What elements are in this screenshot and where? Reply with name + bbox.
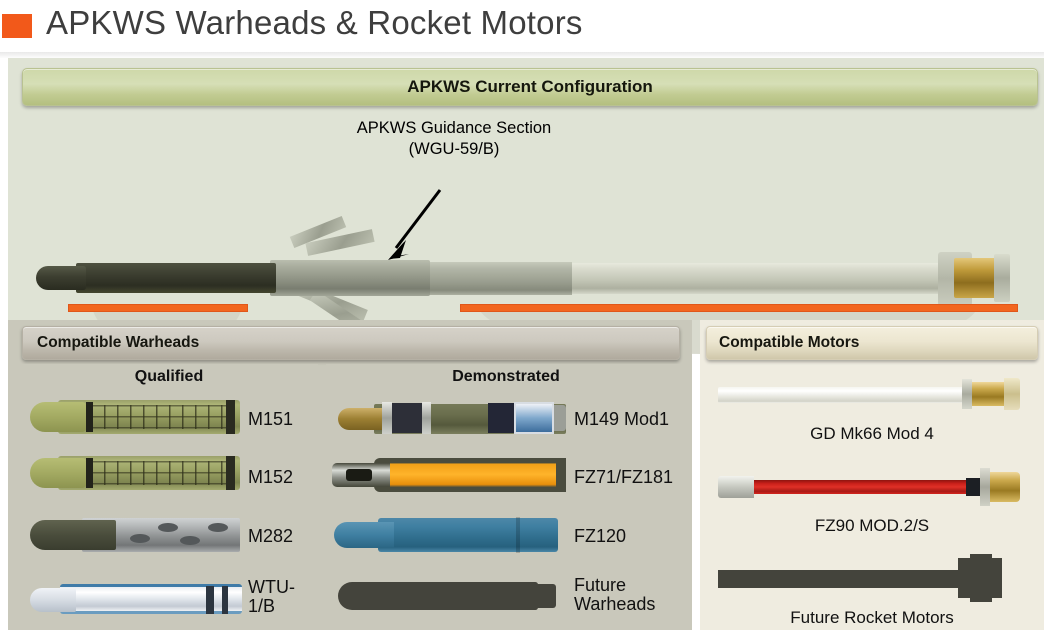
m282-label: M282 [248,527,293,546]
fz120-label: FZ120 [574,527,626,546]
fz71-fz181-label: FZ71/FZ181 [574,468,673,487]
future-warheads-graphic [338,582,560,610]
compatible-warheads-banner: Compatible Warheads [22,326,680,360]
hero-banner: APKWS Current Configuration [22,68,1038,106]
fz90-nozzle [986,472,1020,502]
m151-label: M151 [248,410,293,429]
warhead-nose [36,266,86,290]
compatible-motors-label: Compatible Motors [707,334,859,352]
callout-line-2: (WGU-59/B) [324,139,584,160]
fz120-graphic [334,518,558,552]
m152-label: M152 [248,468,293,487]
compatible-warheads-panel: Compatible Warheads Qualified M151 M152 [8,320,692,630]
fz90-label: FZ90 MOD.2/S [700,516,1044,536]
m151-graphic [30,400,240,434]
wtu-1b-label-line2: 1/B [248,597,295,616]
m149-mod1-graphic [338,402,566,434]
orange-square-marker-icon [2,14,32,38]
warhead-row-fz120: FZ120 [326,506,686,566]
wtu-1b-graphic [30,584,242,616]
warhead-row-m149-mod1: M149 Mod1 [326,390,686,448]
wtu-1b-label: WTU- 1/B [248,578,295,616]
future-motor-graphic [718,558,1018,598]
demonstrated-column: Demonstrated M149 Mod1 FZ71/FZ181 [326,364,686,624]
rocket-motor-tube [568,263,948,294]
future-warheads-label-line2: Warheads [574,595,655,614]
m152-graphic [30,456,240,490]
callout-line-1: APKWS Guidance Section [324,118,584,139]
current-configuration-panel: APKWS Current Configuration APKWS Guidan… [8,58,1044,320]
mk66-graphic [718,378,1018,412]
compatible-motors-banner: Compatible Motors [706,326,1038,360]
rocket-mid-section [426,262,572,295]
page-title: APKWS Warheads & Rocket Motors [46,4,583,42]
fz90-graphic [718,470,1018,504]
warhead-section [76,263,276,293]
warhead-row-m151: M151 [20,390,318,448]
m282-graphic [30,518,240,552]
demonstrated-column-header: Demonstrated [326,364,686,386]
hero-banner-label: APKWS Current Configuration [407,77,653,97]
qualified-column: Qualified M151 M152 [20,364,318,624]
guidance-section [270,260,430,296]
guidance-section-callout: APKWS Guidance Section (WGU-59/B) [324,118,584,159]
warhead-row-wtu-1b: WTU- 1/B [20,566,318,628]
callout-arrow-icon [380,186,450,266]
compatible-warheads-label: Compatible Warheads [23,334,199,352]
warhead-length-indicator [68,304,248,312]
qualified-column-header: Qualified [20,364,318,386]
nozzle-end-ring [994,254,1010,302]
future-warheads-label-line1: Future [574,576,655,595]
mk66-nozzle [966,382,1008,406]
m149-mod1-label: M149 Mod1 [574,410,669,429]
warhead-row-m282: M282 [20,506,318,566]
fz71-fz181-graphic [332,458,566,492]
warhead-row-m152: M152 [20,448,318,506]
motor-length-indicator [460,304,1018,312]
compatible-motors-panel: Compatible Motors GD Mk66 Mod 4 FZ90 MOD… [700,320,1044,630]
page-title-bar: APKWS Warheads & Rocket Motors [0,0,1044,58]
warhead-row-future-warheads: Future Warheads [326,566,686,628]
wtu-1b-label-line1: WTU- [248,578,295,597]
warhead-row-fz71-fz181: FZ71/FZ181 [326,448,686,506]
future-motor-label: Future Rocket Motors [700,608,1044,628]
mk66-label: GD Mk66 Mod 4 [700,424,1044,444]
future-warheads-label: Future Warheads [574,576,655,614]
